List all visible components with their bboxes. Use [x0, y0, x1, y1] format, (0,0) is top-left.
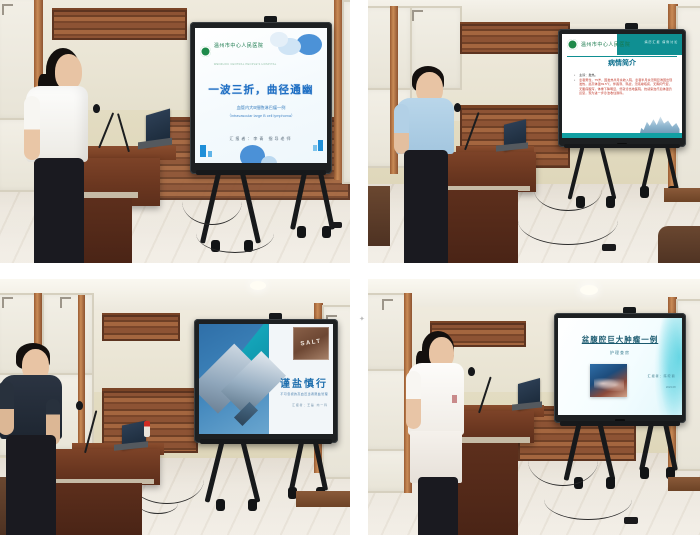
- panel-bottom-right: 盆腹腔巨大肿瘤一例 护理查房 汇报者：陈晓丽 2023.08: [368, 279, 700, 535]
- panel-bottom-left: SALT 谨盐慎行 不可忽视的高血压患者限盐管理 汇报者：王磊 内一科: [0, 279, 350, 535]
- microphone-head-icon: [468, 367, 475, 376]
- bullet-item: 主诉：发热。: [574, 73, 675, 77]
- wall-corner-bracket: [2, 4, 13, 15]
- wood-slat-wall: [102, 315, 180, 341]
- scene-bottom-left: SALT 谨盐慎行 不可忽视的高血压患者限盐管理 汇报者：王磊 内一科: [0, 279, 350, 535]
- slide-bullet-list: 主诉：发热。 患者男性，75岁，因发热半月余收入院，患者半月余无明显诱因出现发热…: [574, 73, 675, 97]
- power-cable: [138, 493, 178, 514]
- slide-authors: 汇报者：王磊 内一科: [292, 403, 328, 407]
- stand-caster: [640, 186, 649, 198]
- stand-caster: [322, 226, 331, 238]
- slide-band-text: 病历汇报 病例讨论: [644, 40, 678, 44]
- wood-slat-wall: [460, 24, 570, 54]
- display-screen: 温州市中心人民医院 WENZHOU CENTRAL PEOPLE'S HOSPI…: [190, 22, 332, 174]
- legs: [34, 158, 84, 263]
- stand-caster: [248, 499, 257, 511]
- slide-divider: [567, 56, 677, 57]
- slide-header-logo: 温州市中心人民医院: [567, 39, 631, 50]
- slide-header-logo: 温州市中心人民医院 WENZHOU CENTRAL PEOPLE'S HOSPI…: [200, 34, 277, 70]
- podium-base: [440, 190, 518, 263]
- slide-subtitle-en: （intravascular large B cell lymphoma）: [195, 114, 328, 119]
- legs: [418, 477, 458, 535]
- microphone-head-icon: [76, 401, 83, 410]
- ceiling: [368, 279, 700, 310]
- slide-subtitle-cn: 护理查房: [558, 350, 682, 356]
- decor-wave: [625, 318, 682, 415]
- display-screen: SALT 谨盐慎行 不可忽视的高血压患者限盐管理 汇报者：王磊 内一科: [194, 319, 338, 443]
- panel-top-right: 病历汇报 病例讨论 温州市中心人民医院 病情简介 主诉：发热。 患者男性，75岁…: [368, 0, 700, 263]
- slide-content: 病历汇报 病例讨论 温州市中心人民医院 病情简介 主诉：发热。 患者男性，75岁…: [562, 34, 682, 138]
- legs: [404, 150, 448, 263]
- hospital-name: 温州市中心人民医院: [214, 43, 264, 49]
- photo-collage: 温州市中心人民医院 WENZHOU CENTRAL PEOPLE'S HOSPI…: [0, 0, 700, 535]
- scene-bottom-right: 盆腹腔巨大肿瘤一例 护理查房 汇报者：陈晓丽 2023.08: [368, 279, 700, 535]
- scene-top-right: 病历汇报 病例讨论 温州市中心人民医院 病情简介 主诉：发热。 患者男性，75岁…: [368, 0, 700, 263]
- arm: [24, 96, 40, 160]
- salt-photo: SALT: [293, 327, 329, 360]
- decor-square: [208, 151, 212, 158]
- power-cable: [196, 214, 274, 253]
- power-cable: [544, 479, 632, 520]
- slat-frame: [460, 105, 570, 108]
- water-bottle: [144, 421, 150, 437]
- arm: [406, 371, 421, 429]
- display-screen: 盆腹腔巨大肿瘤一例 护理查房 汇报者：陈晓丽 2023.08: [554, 313, 686, 423]
- decor-square: [313, 145, 317, 150]
- chair: [368, 186, 390, 246]
- screen-surface: SALT 谨盐慎行 不可忽视的高血压患者限盐管理 汇报者：王磊 内一科: [199, 324, 334, 434]
- decor-square: [200, 145, 207, 157]
- id-badge: [452, 395, 457, 403]
- slide-subtitle-cn: 不可忽视的高血压患者限盐管理: [280, 392, 328, 396]
- stand-caster: [640, 467, 649, 479]
- hospital-logo-icon: [567, 39, 578, 50]
- display-screen: 病历汇报 病例讨论 温州市中心人民医院 病情简介 主诉：发热。 患者男性，75岁…: [558, 29, 686, 147]
- wall-post: [78, 295, 85, 457]
- microphone-head-icon: [93, 104, 100, 113]
- wall-corner-bracket: [382, 299, 393, 310]
- stand-caster: [297, 226, 306, 238]
- slat-frame: [102, 388, 198, 391]
- chair: [658, 226, 700, 263]
- wall-panel: [342, 0, 350, 184]
- cable-plug: [602, 244, 616, 251]
- salt-label: SALT: [291, 325, 332, 363]
- screen-surface: 病历汇报 病例讨论 温州市中心人民医院 病情简介 主诉：发热。 患者男性，75岁…: [562, 34, 682, 138]
- slide-content: 温州市中心人民医院 WENZHOU CENTRAL PEOPLE'S HOSPI…: [195, 28, 328, 162]
- slide-title: 谨盐慎行: [280, 375, 328, 390]
- surgery-photo: [590, 364, 627, 397]
- podium-base: [54, 483, 142, 535]
- wall-corner-bracket: [60, 297, 71, 308]
- cable-plug: [624, 517, 638, 524]
- side-table: [296, 491, 350, 507]
- bullet-item: 患者男性，75岁，因发热半月余收入院，患者半月余无明显诱因出现发热，最高体温39…: [574, 78, 675, 96]
- slide-footer-bar: [562, 133, 682, 138]
- slide-content: SALT 谨盐慎行 不可忽视的高血压患者限盐管理 汇报者：王磊 内一科: [199, 324, 334, 434]
- decor-blob: [261, 156, 277, 163]
- side-table: [664, 188, 700, 202]
- side-table: [668, 477, 700, 491]
- slide-title: 病情简介: [562, 58, 682, 68]
- slide-subtitle-cn: 血管内大B细胞淋巴瘤一例: [195, 105, 328, 111]
- wall-corner-bracket: [2, 297, 13, 308]
- power-cable: [518, 196, 618, 245]
- slide-date: 2023.08: [666, 386, 676, 389]
- legs: [6, 435, 56, 535]
- cable-plug: [330, 222, 342, 228]
- slide-title: 一波三折，曲径通幽: [195, 82, 328, 97]
- ceiling-light-icon: [250, 281, 266, 290]
- slide-authors: 汇报者：李青 指导老师: [195, 136, 328, 142]
- ceiling-light-icon: [580, 285, 598, 295]
- microphone-head-icon: [454, 103, 461, 112]
- coat-lower: [410, 431, 462, 483]
- screen-surface: 盆腹腔巨大肿瘤一例 护理查房 汇报者：陈晓丽 2023.08: [558, 318, 682, 415]
- arm: [394, 104, 409, 154]
- hospital-name: 温州市中心人民医院: [581, 41, 631, 48]
- hospital-name-en: WENZHOU CENTRAL PEOPLE'S HOSPITAL: [214, 63, 277, 66]
- slide-authors: 汇报者：陈晓丽: [648, 374, 676, 378]
- slide-title: 盆腹腔巨大肿瘤一例: [558, 334, 682, 345]
- head: [55, 54, 82, 90]
- arm: [0, 381, 14, 435]
- screen-surface: 温州市中心人民医院 WENZHOU CENTRAL PEOPLE'S HOSPI…: [195, 28, 328, 162]
- gutter-artifact: ✦: [359, 316, 366, 323]
- hospital-logo-icon: [200, 46, 211, 57]
- wall-corner-bracket: [412, 10, 423, 21]
- panel-top-left: 温州市中心人民医院 WENZHOU CENTRAL PEOPLE'S HOSPI…: [0, 0, 350, 263]
- slide-content: 盆腹腔巨大肿瘤一例 护理查房 汇报者：陈晓丽 2023.08: [558, 318, 682, 415]
- stand-caster: [216, 499, 225, 511]
- scene-top-left: 温州市中心人民医院 WENZHOU CENTRAL PEOPLE'S HOSPI…: [0, 0, 350, 263]
- wood-slat-wall: [52, 10, 187, 40]
